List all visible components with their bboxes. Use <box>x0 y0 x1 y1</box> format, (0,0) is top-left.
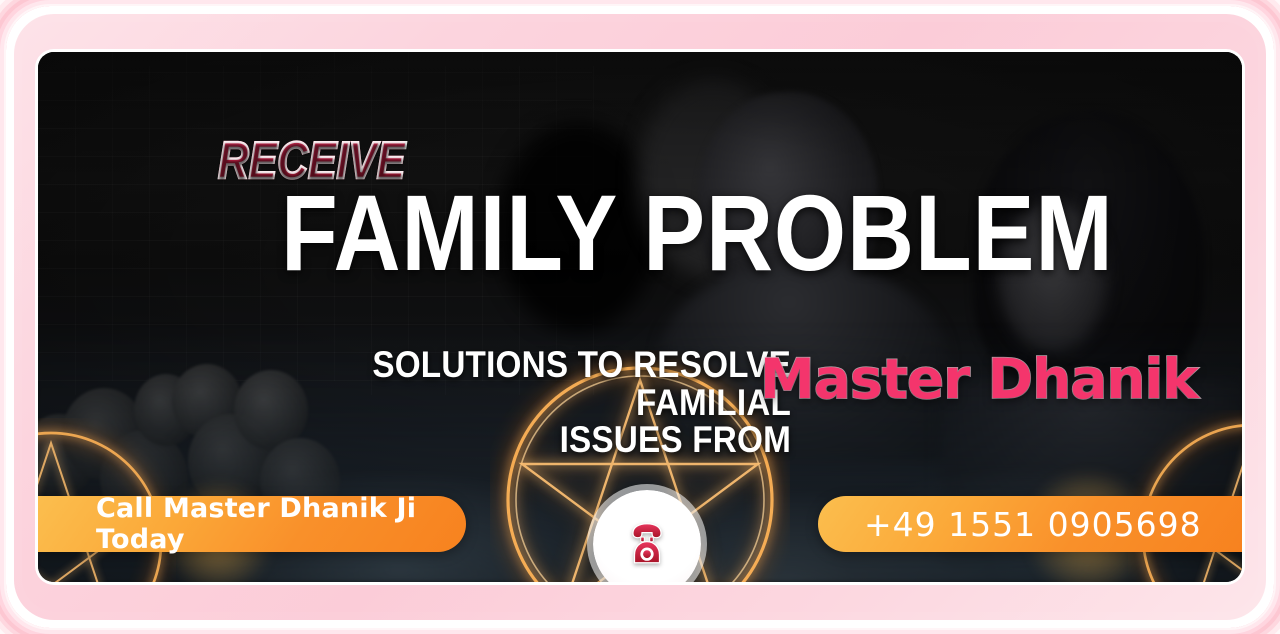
phone-number-button[interactable]: +49 1551 0905698 <box>818 496 1242 552</box>
page-title: FAMILY PROBLEM <box>281 183 1114 282</box>
telephone-icon <box>622 519 672 569</box>
brand-name: Master Dhanik <box>760 347 1198 411</box>
subtitle-line-1: SOLUTIONS TO RESOLVE FAMILIAL <box>346 346 792 421</box>
banner-frame: RECEIVE FAMILY PROBLEM SOLUTIONS TO RESO… <box>0 0 1280 634</box>
phone-number-label: +49 1551 0905698 <box>864 505 1202 544</box>
call-cta-label: Call Master Dhanik Ji Today <box>96 493 466 555</box>
call-cta-button[interactable]: Call Master Dhanik Ji Today <box>38 496 466 552</box>
subtitle-line-2: ISSUES FROM <box>346 421 792 459</box>
banner-panel: RECEIVE FAMILY PROBLEM SOLUTIONS TO RESO… <box>38 52 1242 582</box>
subtitle-text: SOLUTIONS TO RESOLVE FAMILIAL ISSUES FRO… <box>346 346 792 459</box>
